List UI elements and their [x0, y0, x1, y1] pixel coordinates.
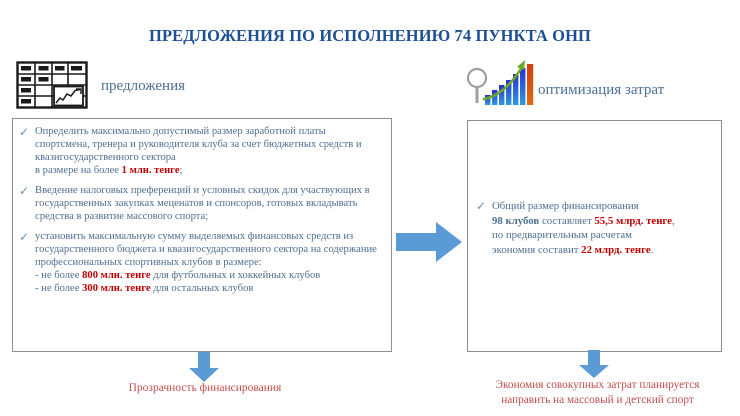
caption-savings-line1: Экономия совокупных затрат планируется [455, 378, 740, 393]
header-left-label: предложения [101, 78, 185, 95]
bullet-text: Определить максимально допустимый размер… [35, 125, 383, 177]
slide-root: ПРЕДЛОЖЕНИЯ ПО ИСПОЛНЕНИЮ 74 ПУНКТА ОНП [0, 0, 740, 416]
proposals-bullet-list: ✓Определить максимально допустимый разме… [19, 125, 383, 295]
bullet-item: ✓установить максимальную сумму выделяемы… [19, 230, 383, 295]
proposals-box: ✓Определить максимально допустимый разме… [12, 118, 392, 352]
bullet-item: ✓Введение налоговых преференций и условн… [19, 184, 383, 223]
check-icon: ✓ [19, 125, 35, 139]
savings-bullet-list: ✓Общий размер финансирования98 клубов со… [468, 199, 721, 257]
caption-savings-direction: Экономия совокупных затрат планируется н… [455, 378, 740, 408]
bullet-item: ✓Общий размер финансирования98 клубов со… [476, 199, 711, 257]
magnifier-growth-chart-icon [466, 57, 542, 109]
check-icon: ✓ [19, 230, 35, 244]
arrow-down-icon-left [188, 352, 220, 382]
caption-transparency: Прозрачность финансирования [60, 382, 350, 394]
spreadsheet-chart-icon [16, 61, 88, 109]
header-right-label: оптимизация затрат [538, 82, 664, 99]
bullet-item: ✓Определить максимально допустимый разме… [19, 125, 383, 177]
caption-savings-line2: направить на массовый и детский спорт [455, 393, 740, 408]
savings-box: ✓Общий размер финансирования98 клубов со… [467, 120, 722, 352]
page-title: ПРЕДЛОЖЕНИЯ ПО ИСПОЛНЕНИЮ 74 ПУНКТА ОНП [0, 26, 740, 46]
check-icon: ✓ [19, 184, 35, 198]
bullet-text: установить максимальную сумму выделяемых… [35, 230, 383, 295]
arrow-down-icon-right [578, 350, 610, 378]
check-icon: ✓ [476, 199, 492, 213]
bullet-text: Введение налоговых преференций и условны… [35, 184, 383, 223]
bullet-text: Общий размер финансирования98 клубов сос… [492, 199, 711, 257]
arrow-right-icon [396, 219, 462, 265]
